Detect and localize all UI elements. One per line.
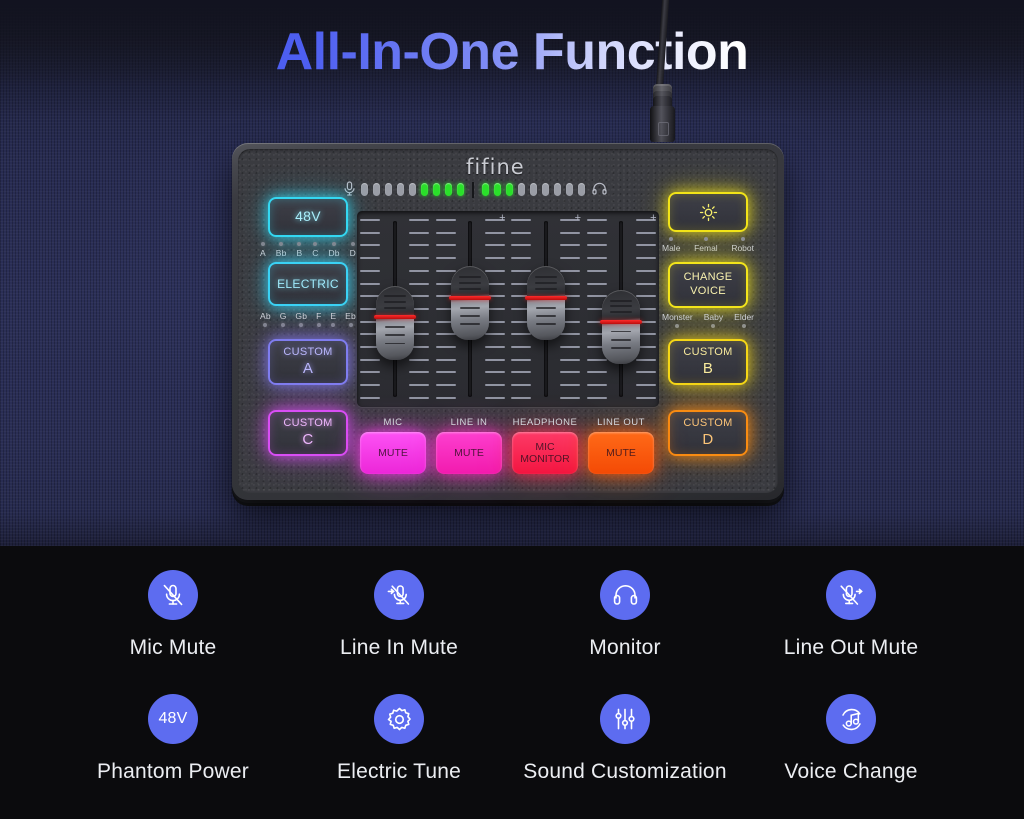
mute-button-line-in[interactable]: MUTE xyxy=(436,432,502,474)
voice-preset-item: Monster xyxy=(662,310,693,328)
led-off xyxy=(542,183,549,196)
meter-divider xyxy=(472,182,474,198)
voice-change-icon xyxy=(826,694,876,744)
knob-ridge xyxy=(384,307,406,309)
mute-button-label: MUTE xyxy=(454,447,484,459)
feature-row-2: 48V Phantom Power Electric Tune So xyxy=(60,694,964,784)
note-label: Gb xyxy=(295,311,307,321)
fader-plus-label: + xyxy=(650,213,656,224)
note-item: C xyxy=(312,242,318,258)
mute-caption: LINE IN xyxy=(436,417,502,428)
custom-d-letter: D xyxy=(702,431,713,450)
knob-indicator xyxy=(449,296,491,300)
knob-grip xyxy=(460,307,480,309)
voice-preset-item: Femal xyxy=(694,237,718,253)
preset-led xyxy=(742,324,746,328)
phantom-power-button[interactable]: 48V xyxy=(268,197,348,237)
voice-preset-item: Elder xyxy=(734,310,754,328)
knob-ridge xyxy=(535,282,557,284)
custom-d-label: CUSTOM xyxy=(683,417,732,431)
feature-electric-tune[interactable]: Electric Tune xyxy=(286,694,512,784)
custom-c-letter: C xyxy=(302,431,313,450)
custom-b-button[interactable]: CUSTOM B xyxy=(668,339,748,385)
page-title: All-In-One Function xyxy=(0,22,1024,82)
feature-label: Phantom Power xyxy=(97,760,249,784)
led-on xyxy=(506,183,513,196)
48v-text: 48V xyxy=(158,710,187,728)
note-led xyxy=(297,242,301,246)
preset-label: Baby xyxy=(704,312,723,322)
feature-phantom-power[interactable]: 48V Phantom Power xyxy=(60,694,286,784)
custom-d-button[interactable]: CUSTOM D xyxy=(668,410,748,456)
preset-label: Robot xyxy=(731,243,754,253)
knob-grip xyxy=(536,323,556,325)
fader-knob[interactable] xyxy=(527,266,565,340)
feature-label: Line In Mute xyxy=(340,636,458,660)
feature-line-out-mute[interactable]: Line Out Mute xyxy=(738,570,964,660)
knob-grip xyxy=(385,326,405,328)
cable-wire xyxy=(656,0,670,92)
custom-b-label: CUSTOM xyxy=(683,346,732,360)
change-voice-label-2: VOICE xyxy=(690,285,726,299)
mute-button-line-out[interactable]: MUTE xyxy=(588,432,654,474)
led-off xyxy=(385,183,392,196)
preset-led xyxy=(741,237,745,241)
fader-knob[interactable] xyxy=(376,286,414,360)
fader-plus-label: + xyxy=(499,213,505,224)
note-led xyxy=(317,323,321,327)
mute-button-label: MUTE xyxy=(606,447,636,459)
custom-c-label: CUSTOM xyxy=(283,417,332,431)
note-label: Eb xyxy=(345,311,356,321)
fader-3: + xyxy=(508,211,583,407)
mute-caption: MIC xyxy=(360,417,426,428)
mute-button-label: MUTE xyxy=(378,447,408,459)
note-label: B xyxy=(296,248,302,258)
led-on xyxy=(445,183,452,196)
voice-preset-item: Baby xyxy=(704,310,723,328)
note-item: Ab xyxy=(260,311,271,327)
feature-mic-mute[interactable]: Mic Mute xyxy=(60,570,286,660)
feature-line-in-mute[interactable]: Line In Mute xyxy=(286,570,512,660)
knob-grip xyxy=(611,331,631,333)
phantom-power-label: 48V xyxy=(295,208,321,226)
custom-b-letter: B xyxy=(703,360,713,379)
note-item: Db xyxy=(328,242,339,258)
knob-ridge xyxy=(610,300,632,302)
note-led xyxy=(279,242,283,246)
note-item: G xyxy=(280,311,287,327)
knob-ridge xyxy=(610,311,632,313)
note-item: D xyxy=(350,242,356,258)
led-off xyxy=(373,183,380,196)
voice-preset-item: Male xyxy=(662,237,680,253)
note-item: Gb xyxy=(295,311,307,327)
led-level-meter xyxy=(343,181,607,198)
preset-led xyxy=(675,324,679,328)
fader-bay: +++ xyxy=(357,211,659,407)
note-led xyxy=(299,323,303,327)
knob-grip xyxy=(385,334,405,336)
knob-grip xyxy=(611,339,631,341)
voice-preset-item: Robot xyxy=(731,237,754,253)
note-item: E xyxy=(330,311,336,327)
line-in-mute-icon xyxy=(374,570,424,620)
feature-voice-change[interactable]: Voice Change xyxy=(738,694,964,784)
cable-plug xyxy=(650,106,675,142)
knob-grip xyxy=(536,315,556,317)
feature-label: Electric Tune xyxy=(337,760,461,784)
custom-a-button[interactable]: CUSTOM A xyxy=(268,339,348,385)
led-group-right xyxy=(482,183,585,196)
headphone-icon xyxy=(600,570,650,620)
fader-2: + xyxy=(433,211,508,407)
led-off xyxy=(566,183,573,196)
preset-led xyxy=(669,237,673,241)
led-on xyxy=(457,183,464,196)
audio-mixer-device: fifine xyxy=(232,143,784,500)
mute-cell-mic: MICMUTE xyxy=(360,417,426,474)
note-label: E xyxy=(330,311,336,321)
note-item: Eb xyxy=(345,311,356,327)
mute-button-label: MICMONITOR xyxy=(520,441,569,465)
knob-ridge xyxy=(535,276,557,278)
note-led xyxy=(261,242,265,246)
fader-1 xyxy=(357,211,432,407)
knob-ridge xyxy=(459,288,481,290)
preset-label: Femal xyxy=(694,243,718,253)
feature-monitor[interactable]: Monitor xyxy=(512,570,738,660)
custom-a-label: CUSTOM xyxy=(283,346,332,360)
knob-ridge xyxy=(384,301,406,303)
feature-label: Voice Change xyxy=(784,760,917,784)
knob-ridge xyxy=(459,282,481,284)
feature-sound-customization[interactable]: Sound Customization xyxy=(512,694,738,784)
note-led xyxy=(313,242,317,246)
knob-ridge xyxy=(384,295,406,297)
custom-a-letter: A xyxy=(303,360,313,379)
preset-label: Monster xyxy=(662,312,693,322)
gear-icon xyxy=(374,694,424,744)
note-label: Bb xyxy=(276,248,287,258)
note-led xyxy=(281,323,285,327)
led-off xyxy=(361,183,368,196)
knob-ridge xyxy=(535,288,557,290)
led-off xyxy=(397,183,404,196)
48v-text-icon: 48V xyxy=(148,694,198,744)
note-led xyxy=(263,323,267,327)
preset-led xyxy=(704,237,708,241)
led-off xyxy=(518,183,525,196)
knob-ridge xyxy=(459,276,481,278)
led-on xyxy=(494,183,501,196)
preset-led xyxy=(711,324,715,328)
mic-mute-icon xyxy=(148,570,198,620)
note-item: B xyxy=(296,242,302,258)
mute-button-headphone[interactable]: MICMONITOR xyxy=(512,432,578,474)
custom-c-button[interactable]: CUSTOM C xyxy=(268,410,348,456)
fader-4: + xyxy=(584,211,659,407)
note-label: F xyxy=(316,311,321,321)
note-row-top: A Bb B C Db D xyxy=(260,242,356,258)
led-group-left xyxy=(361,183,464,196)
feature-list: Mic Mute Line In Mute Mon xyxy=(0,546,1024,819)
note-label: G xyxy=(280,311,287,321)
note-item: F xyxy=(316,311,321,327)
note-label: C xyxy=(312,248,318,258)
led-off xyxy=(409,183,416,196)
knob-grip xyxy=(385,343,405,345)
note-led xyxy=(331,323,335,327)
voice-effect-button[interactable] xyxy=(668,192,748,232)
led-off xyxy=(530,183,537,196)
microphone-icon xyxy=(343,181,356,198)
knob-grip xyxy=(460,323,480,325)
voice-preset-row-bottom: Monster Baby Elder xyxy=(662,310,754,328)
note-label: D xyxy=(350,248,356,258)
mute-cell-line-out: LINE OUTMUTE xyxy=(588,417,654,474)
note-label: Db xyxy=(328,248,339,258)
note-label: Ab xyxy=(260,311,271,321)
electric-tune-button[interactable]: ELECTRIC xyxy=(268,262,348,306)
usb-cable xyxy=(640,0,700,150)
sliders-icon xyxy=(600,694,650,744)
fader-knob[interactable] xyxy=(451,266,489,340)
feature-label: Sound Customization xyxy=(523,760,726,784)
led-on xyxy=(421,183,428,196)
fader-knob[interactable] xyxy=(602,290,640,364)
feature-label: Monitor xyxy=(589,636,660,660)
mute-cell-headphone: HEADPHONEMICMONITOR xyxy=(512,417,578,474)
knob-indicator xyxy=(600,320,642,324)
knob-ridge xyxy=(610,305,632,307)
line-out-mute-icon xyxy=(826,570,876,620)
note-led xyxy=(349,323,353,327)
feature-label: Mic Mute xyxy=(130,636,217,660)
note-led xyxy=(332,242,336,246)
note-item: Bb xyxy=(276,242,287,258)
electric-tune-label: ELECTRIC xyxy=(277,277,339,292)
led-off xyxy=(554,183,561,196)
knob-grip xyxy=(611,347,631,349)
mute-button-mic[interactable]: MUTE xyxy=(360,432,426,474)
led-on xyxy=(433,183,440,196)
knob-grip xyxy=(536,307,556,309)
voice-preset-row-top: Male Femal Robot xyxy=(662,237,754,253)
device-faceplate: fifine xyxy=(238,149,778,493)
mute-cell-line-in: LINE INMUTE xyxy=(436,417,502,474)
feature-row-1: Mic Mute Line In Mute Mon xyxy=(60,570,964,660)
sun-icon xyxy=(699,203,718,222)
led-off xyxy=(578,183,585,196)
change-voice-label-1: CHANGE xyxy=(684,271,733,285)
knob-grip xyxy=(460,315,480,317)
mute-caption: HEADPHONE xyxy=(512,417,578,428)
knob-indicator xyxy=(525,296,567,300)
preset-label: Male xyxy=(662,243,680,253)
knob-indicator xyxy=(374,315,416,319)
product-scene: All-In-One Function fifine xyxy=(0,0,1024,546)
mute-caption: LINE OUT xyxy=(588,417,654,428)
headphone-icon xyxy=(592,182,607,197)
brand-logo: fifine xyxy=(466,155,525,179)
note-led xyxy=(351,242,355,246)
note-row-bottom: Ab G Gb F E Eb xyxy=(260,311,356,327)
preset-label: Elder xyxy=(734,312,754,322)
change-voice-button[interactable]: CHANGE VOICE xyxy=(668,262,748,308)
fader-plus-label: + xyxy=(575,213,581,224)
led-on xyxy=(482,183,489,196)
note-item: A xyxy=(260,242,266,258)
note-label: A xyxy=(260,248,266,258)
feature-label: Line Out Mute xyxy=(784,636,919,660)
